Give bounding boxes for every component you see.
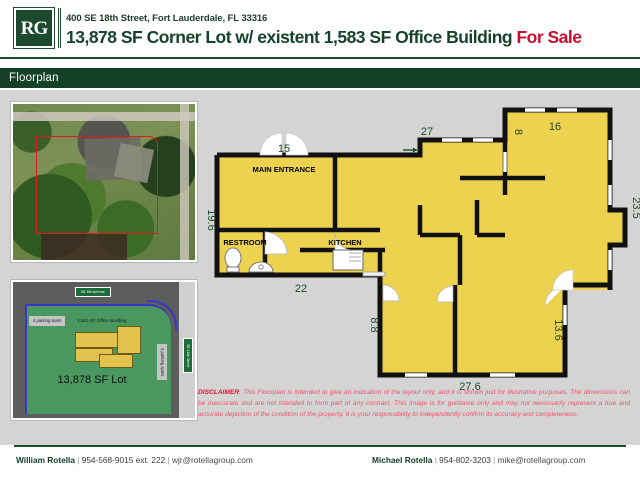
- footer-divider: [14, 445, 626, 447]
- room-label-restroom: RESTROOM: [223, 238, 266, 247]
- dimension-15: 15: [278, 143, 290, 155]
- site-plan-panel: 13,878 SF Lot 4 parking spots 1,583 SF O…: [11, 280, 197, 420]
- contact-name: William Rotella: [16, 455, 75, 465]
- disclaimer-body: : This Floorplan is intended to give an …: [198, 389, 630, 418]
- street-label-top: SE 6th Avenue: [75, 287, 111, 297]
- parking-label-right: 4 parking spots: [157, 344, 167, 380]
- page-header: RG 400 SE 18th Street, Fort Lauderdale, …: [0, 0, 640, 58]
- company-logo: RG: [14, 8, 54, 48]
- section-title: Floorplan: [0, 72, 59, 84]
- aerial-road-vertical: [180, 104, 189, 260]
- logo-divider: [58, 8, 61, 48]
- flyer-page: RG 400 SE 18th Street, Fort Lauderdale, …: [0, 0, 640, 480]
- toilet-tank-icon: [227, 267, 239, 272]
- header-divider: [0, 57, 640, 59]
- building-wing-c: [117, 326, 141, 354]
- dimension-13-6: 13.6: [552, 319, 564, 340]
- aerial-lot-boundary-outline: [36, 136, 158, 234]
- contact-name: Michael Rotella: [372, 455, 432, 465]
- contact-phone[interactable]: 954-802-3203: [439, 455, 491, 465]
- dimension-16: 16: [549, 121, 561, 133]
- street-label-right: SE 18th Street: [183, 338, 193, 373]
- content-canvas: 13,878 SF Lot 4 parking spots 1,583 SF O…: [0, 90, 640, 445]
- disclaimer-label: DISCLAIMER: [198, 389, 239, 396]
- aerial-neighbor-structure: [41, 234, 127, 262]
- kitchen-counter-icon: [363, 272, 385, 276]
- contact-william-rotella: William Rotella | 954-568-9015 ext. 222 …: [16, 455, 253, 465]
- room-label-kitchen: KITCHEN: [328, 238, 361, 247]
- floorplan-drawing: MAIN ENTRANCE RESTROOM KITCHEN 15 27 16 …: [205, 90, 640, 400]
- dimension-8-8: 8.8: [368, 317, 380, 332]
- section-banner: Floorplan: [0, 68, 640, 88]
- building-wing-a: [75, 332, 121, 348]
- for-sale-badge: For Sale: [516, 27, 581, 47]
- contact-michael-rotella: Michael Rotella | 954-802-3203 | mike@ro…: [372, 455, 585, 465]
- site-plan-lot-label: 13,878 SF Lot: [27, 374, 157, 386]
- dimension-23-5: 23.5: [630, 197, 640, 218]
- floorplan-svg: MAIN ENTRANCE RESTROOM KITCHEN 15 27 16 …: [205, 90, 640, 400]
- disclaimer-text: DISCLAIMER: This Floorplan is intended t…: [198, 388, 630, 421]
- dimension-19-6: 19.6: [205, 209, 217, 230]
- contact-phone[interactable]: 954-568-9015 ext. 222: [82, 455, 166, 465]
- page-title: 13,878 SF Corner Lot w/ existent 1,583 S…: [66, 27, 582, 48]
- toilet-icon: [225, 248, 241, 268]
- dimension-22: 22: [295, 283, 307, 295]
- building-wing-d: [99, 354, 133, 368]
- logo-monogram: RG: [21, 19, 48, 38]
- dimension-27: 27: [421, 126, 433, 138]
- page-title-main: 13,878 SF Corner Lot w/ existent 1,583 S…: [66, 27, 516, 47]
- direction-arrow-icon: [403, 148, 417, 153]
- contact-email[interactable]: wjr@rotellagroup.com: [172, 455, 253, 465]
- aerial-road-horizontal: [13, 112, 195, 121]
- contact-email[interactable]: mike@rotellagroup.com: [498, 455, 586, 465]
- page-footer: William Rotella | 954-568-9015 ext. 222 …: [0, 445, 640, 480]
- room-label-main-entrance: MAIN ENTRANCE: [253, 165, 316, 174]
- aerial-photo-panel: [11, 102, 197, 262]
- site-plan-building-label: 1,583 SF Office Building: [73, 316, 130, 327]
- property-address: 400 SE 18th Street, Fort Lauderdale, FL …: [66, 13, 267, 24]
- site-plan-building-footprint: [75, 326, 143, 368]
- dimension-8: 8: [512, 129, 524, 135]
- parking-label-left: 4 parking spots: [29, 316, 65, 326]
